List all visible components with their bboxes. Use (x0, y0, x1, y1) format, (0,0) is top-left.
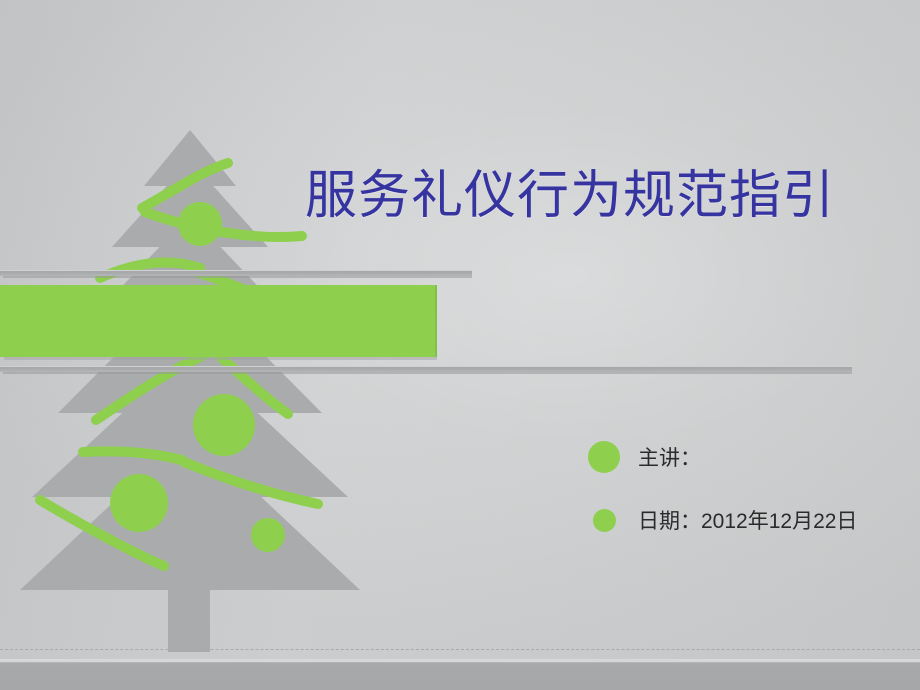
footer-band (0, 659, 920, 690)
meta-row-presenter: 主讲： (586, 434, 906, 480)
top-divider-rule (0, 270, 472, 277)
footer-dotted-divider (0, 649, 920, 650)
bullet-dot-icon (593, 509, 616, 532)
presenter-label: 主讲： (638, 442, 701, 472)
slide-title: 服务礼仪行为规范指引 (305, 167, 905, 225)
accent-green-bar (0, 285, 437, 357)
date-label: 日期：2012年12月22日 (638, 505, 857, 535)
meta-row-date: 日期：2012年12月22日 (586, 497, 906, 543)
bullet-dot-icon (588, 441, 620, 473)
bottom-divider-rule (0, 366, 852, 373)
slide-meta-block: 主讲： 日期：2012年12月22日 (586, 434, 906, 543)
presentation-slide: 服务礼仪行为规范指引 主讲： 日期：2012年12月22日 (0, 0, 920, 690)
